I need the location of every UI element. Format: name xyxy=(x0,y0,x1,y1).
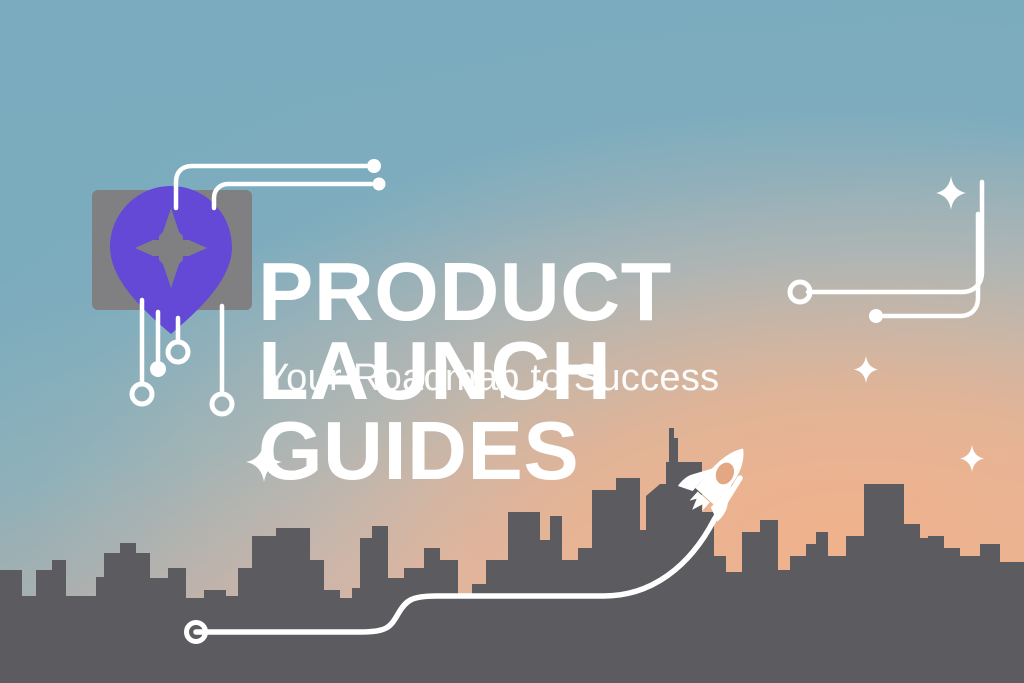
banner-canvas: PRODUCT LAUNCH GUIDES Your Roadmap to Su… xyxy=(0,0,1024,683)
location-pin-icon xyxy=(110,186,232,334)
page-subtitle: Your Roadmap to Success xyxy=(264,357,719,400)
title-line-2: GUIDES xyxy=(258,411,998,491)
logo[interactable] xyxy=(92,190,252,310)
